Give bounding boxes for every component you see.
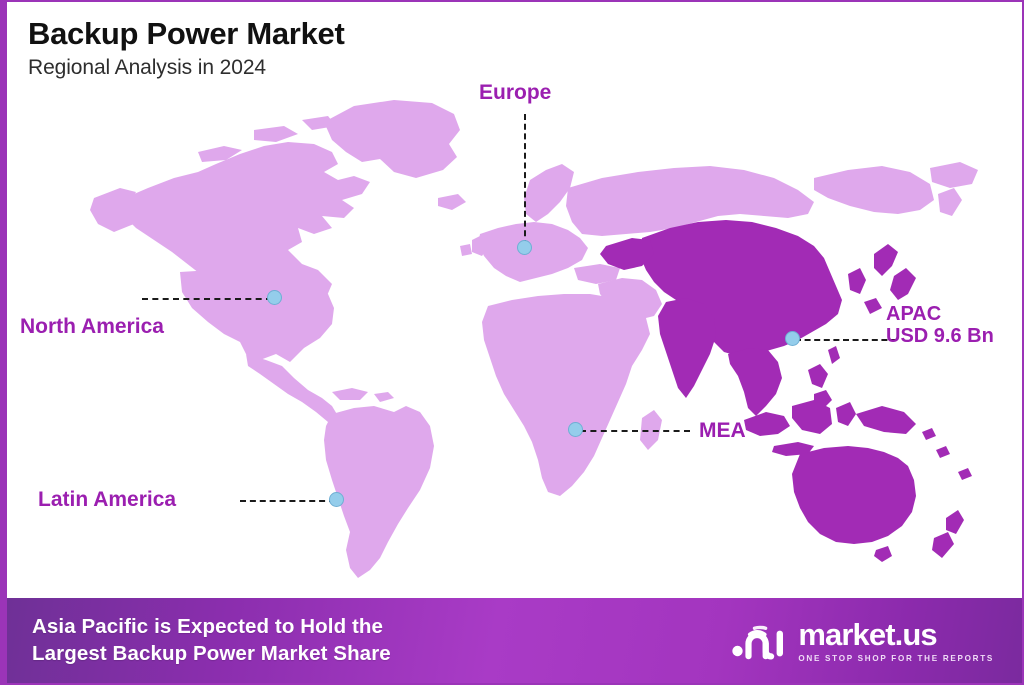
leader-line-europe — [524, 114, 526, 246]
left-accent-bar — [2, 2, 7, 683]
map-marker-latin-america[interactable] — [329, 492, 344, 507]
callout-label-latin-america: Latin America — [38, 488, 176, 512]
page-subtitle: Regional Analysis in 2024 — [28, 56, 344, 80]
callout-apac-value: USD 9.6 Bn — [886, 325, 994, 347]
brand-logo[interactable]: market.us ONE STOP SHOP FOR THE REPORTS — [731, 618, 1002, 664]
footer-headline: Asia Pacific is Expected to Hold the Lar… — [32, 614, 391, 666]
callout-label-north-america: North America — [20, 315, 164, 339]
footer-headline-line2: Largest Backup Power Market Share — [32, 641, 391, 667]
callout-label-apac: APAC USD 9.6 Bn — [886, 303, 994, 348]
infographic-canvas: Backup Power Market Regional Analysis in… — [0, 0, 1024, 685]
leader-line-apac — [795, 339, 897, 341]
map-marker-north-america[interactable] — [267, 290, 282, 305]
brand-tagline: ONE STOP SHOP FOR THE REPORTS — [798, 654, 994, 663]
leader-line-north-america — [142, 298, 272, 300]
header-block: Backup Power Market Regional Analysis in… — [28, 16, 344, 80]
brand-text-block: market.us ONE STOP SHOP FOR THE REPORTS — [798, 619, 994, 663]
map-marker-mea[interactable] — [568, 422, 583, 437]
leader-line-latin-america — [240, 500, 335, 502]
page-title: Backup Power Market — [28, 16, 344, 52]
map-marker-apac[interactable] — [785, 331, 800, 346]
leader-line-mea — [580, 430, 690, 432]
footer-headline-line1: Asia Pacific is Expected to Hold the — [32, 614, 391, 640]
brand-name: market.us — [798, 619, 994, 650]
footer-bar: Asia Pacific is Expected to Hold the Lar… — [2, 598, 1024, 683]
callout-label-mea: MEA — [699, 419, 746, 443]
callout-apac-region: APAC — [886, 303, 994, 325]
callout-label-europe: Europe — [479, 81, 551, 105]
market-us-logo-icon — [731, 618, 787, 664]
map-marker-europe[interactable] — [517, 240, 532, 255]
map-land-apac-highlight — [600, 220, 972, 562]
